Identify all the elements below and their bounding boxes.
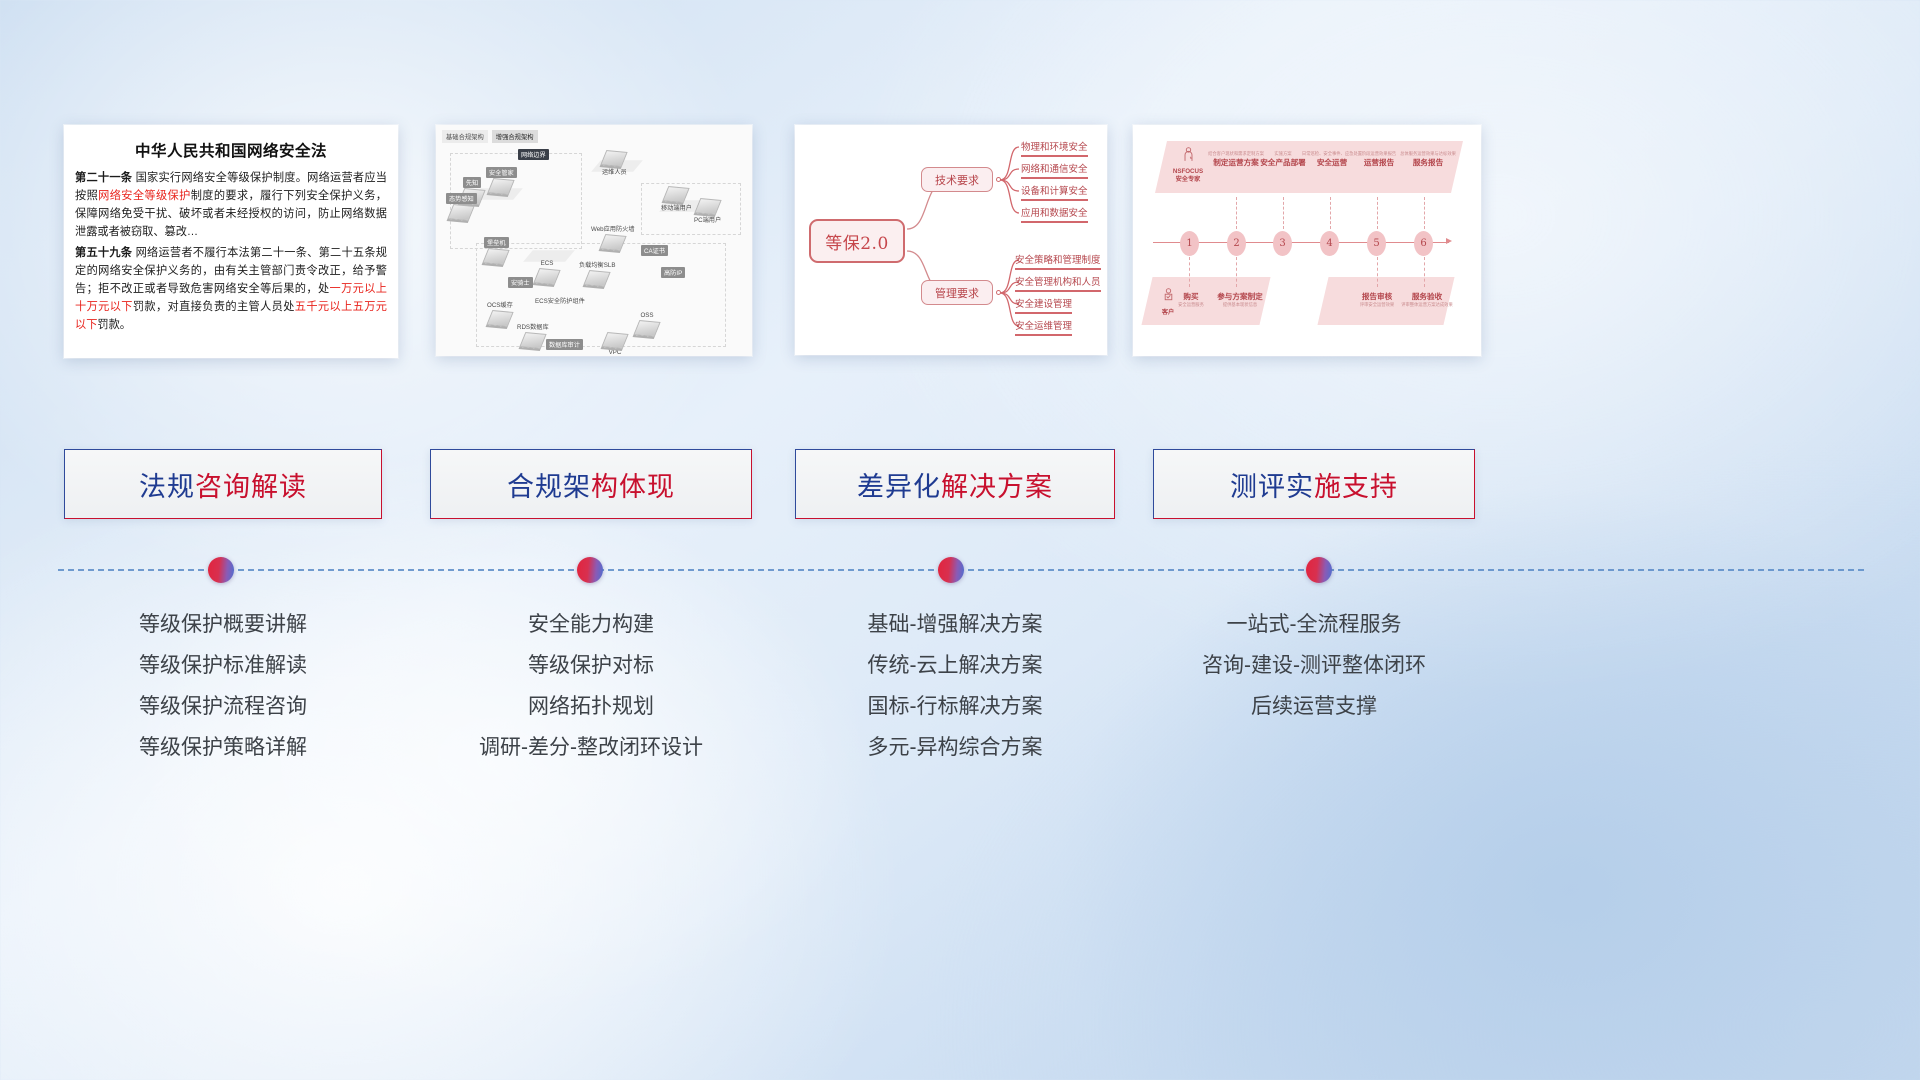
cube-icon [519, 332, 546, 349]
node-label: OCS缓存 [484, 299, 516, 310]
flow-label-service-report: 总体服务运营效果与达标效果 服务报告 [1395, 151, 1461, 168]
flow-step-5[interactable]: 5 [1367, 231, 1386, 256]
flow-tick-3 [1283, 197, 1284, 229]
expert-person-icon [1183, 147, 1194, 162]
node-label: 安全管家 [486, 167, 517, 178]
mindmap-expand-dot-technical[interactable] [996, 177, 1001, 182]
customer-person-icon [1163, 288, 1174, 303]
node-anqishi: 安骑士 [508, 277, 533, 289]
mindmap-leaf-network-security: 网络和通信安全 [1021, 161, 1088, 179]
tab-enhanced-architecture[interactable]: 增强合规架构 [492, 130, 538, 143]
title-box-regulation-consulting[interactable]: 法规咨询解读 [64, 449, 382, 519]
node-situation-awareness: 态势感知 [446, 193, 477, 220]
mindmap: 等保2.0 技术要求 物理和环境安全 网络和通信安全 设备和计算安全 应用和数据… [795, 125, 1107, 355]
tab-basic-architecture[interactable]: 基础合规架构 [442, 130, 488, 143]
node-label: 负载均衡SLB [576, 259, 618, 270]
title-text-3: 差异化解决方案 [857, 465, 1053, 504]
node-label: ECS [538, 259, 557, 268]
node-ecs-protection: ECS安全防护组件 [532, 295, 588, 307]
flow-label-purchase-title: 购买 [1173, 291, 1209, 302]
cube-icon [599, 234, 626, 251]
flow-role-expert-line1: NSFOCUS [1165, 168, 1211, 176]
title-4-red: 施支持 [1314, 472, 1398, 502]
title-boxes-row: 法规咨询解读 合规架构体现 差异化解决方案 测评实施支持 [0, 449, 1920, 519]
card-dengbao-mindmap[interactable]: 等保2.0 技术要求 物理和环境安全 网络和通信安全 设备和计算安全 应用和数据… [795, 125, 1107, 355]
cube-icon [486, 310, 513, 327]
flow-step-3[interactable]: 3 [1273, 231, 1292, 256]
flow-step-6[interactable]: 6 [1414, 231, 1433, 256]
flow-label-acceptance-title: 服务验收 [1401, 291, 1453, 302]
node-label: 先知 [463, 177, 481, 188]
mindmap-leaf-ops-mgmt: 安全运维管理 [1015, 318, 1072, 336]
mindmap-leaf-security-org: 安全管理机构和人员 [1015, 274, 1101, 292]
law-article-21-highlight: 网络安全等级保护 [98, 190, 191, 202]
flow-tick-5 [1377, 197, 1378, 229]
flow-tick-2 [1236, 197, 1237, 229]
mindmap-leaf-device-security: 设备和计算安全 [1021, 183, 1088, 201]
list-item: 多元-异构综合方案 [795, 728, 1115, 769]
cube-icon [448, 204, 475, 221]
mindmap-root[interactable]: 等保2.0 [809, 219, 905, 263]
flow-label-report-review: 报告审核 评审安全运营效果 [1351, 291, 1403, 308]
law-body: 第二十一条 国家实行网络安全等级保护制度。网络运营者应当按照网络安全等级保护制度… [64, 161, 398, 334]
list-item: 等级保护标准解读 [64, 646, 382, 687]
cube-icon [488, 178, 515, 195]
cube-icon [633, 320, 660, 337]
node-security-butler: 安全管家 [486, 167, 517, 194]
cube-icon [601, 332, 628, 349]
flow-label-report-review-title: 报告审核 [1351, 291, 1403, 302]
card-compliance-architecture[interactable]: 基础合规架构 增强合规架构 网络边界 安全管家 先知 态势感知 [436, 125, 752, 356]
flow-tick-6 [1424, 197, 1425, 229]
node-pc-user: PC端用户 [691, 199, 724, 226]
timeline-dot-3[interactable] [938, 557, 964, 583]
mindmap-branch-technical[interactable]: 技术要求 [921, 167, 993, 192]
node-label: 安骑士 [508, 277, 533, 288]
node-oss: OSS [636, 311, 658, 336]
list-item: 基础-增强解决方案 [795, 605, 1115, 646]
flow-step-4[interactable]: 4 [1320, 231, 1339, 256]
node-ocs-cache: OCS缓存 [484, 299, 516, 326]
feature-list-regulation: 等级保护概要讲解 等级保护标准解读 等级保护流程咨询 等级保护策略详解 [64, 605, 382, 769]
node-label: Web应用防火墙 [588, 223, 638, 234]
timeline [0, 560, 1920, 590]
mindmap-branch-management[interactable]: 管理要求 [921, 280, 993, 305]
title-box-compliance-architecture[interactable]: 合规架构体现 [430, 449, 752, 519]
architecture-tabs: 基础合规架构 增强合规架构 [442, 130, 538, 143]
flow-role-expert-line2: 安全专家 [1165, 176, 1211, 184]
cube-icon [584, 270, 611, 287]
title-3-blue: 差异化 [857, 472, 941, 502]
list-item: 等级保护策略详解 [64, 728, 382, 769]
list-item: 后续运营支撑 [1153, 687, 1475, 728]
title-2-red: 构体现 [591, 472, 675, 502]
list-item: 网络拓扑规划 [430, 687, 752, 728]
device-icon [663, 186, 690, 203]
node-label: ECS安全防护组件 [532, 295, 588, 306]
node-network-boundary: 网络边界 [518, 149, 549, 161]
title-2-blue: 合规架 [507, 472, 591, 502]
list-item: 等级保护概要讲解 [64, 605, 382, 646]
law-article-59-text-3: 罚款。 [97, 319, 131, 331]
node-label: 运维人员 [599, 166, 630, 177]
flow-tick-b6 [1424, 257, 1425, 287]
mindmap-leaf-construction-mgmt: 安全建设管理 [1015, 296, 1072, 314]
title-3-red: 解决方案 [941, 472, 1053, 502]
law-article-59: 第五十九条 网络运营者不履行本法第二十一条、第二十五条规定的网络安全保护义务的，… [75, 244, 387, 335]
flow-label-purchase: 购买 安全运营服务 [1173, 291, 1209, 308]
flow-label-acceptance: 服务验收 评审整体运营方案达成效果 [1401, 291, 1453, 308]
law-article-59-text-2: 罚款，对直接负责的主管人员处 [133, 301, 295, 313]
list-item: 等级保护对标 [430, 646, 752, 687]
mindmap-leaf-physical-security: 物理和环境安全 [1021, 139, 1088, 157]
node-waf: Web应用防火墙 [588, 223, 638, 250]
title-1-red: 咨询解读 [195, 472, 307, 502]
feature-list-solution: 基础-增强解决方案 传统-云上解决方案 国标-行标解决方案 多元-异构综合方案 [795, 605, 1115, 769]
architecture-diagram: 基础合规架构 增强合规架构 网络边界 安全管家 先知 态势感知 [436, 125, 752, 356]
node-anti-ddos-ip: 高防IP [661, 267, 685, 279]
card-service-flow[interactable]: NSFOCUS 安全专家 客户 1 2 3 4 5 6 [1133, 125, 1481, 356]
law-article-59-label: 第五十九条 [75, 247, 132, 259]
flow-label-participate: 参与方案制定 提供基本现状信息 [1211, 291, 1269, 308]
node-label: 网络边界 [518, 149, 549, 160]
feature-list-architecture: 安全能力构建 等级保护对标 网络拓扑规划 调研-差分-整改闭环设计 [430, 605, 752, 769]
flow-step-1[interactable]: 1 [1180, 231, 1199, 256]
list-item: 咨询-建设-测评整体闭环 [1153, 646, 1475, 687]
flow-label-report-review-sub: 评审安全运营效果 [1351, 302, 1403, 308]
node-label: VPC [606, 348, 625, 356]
list-item: 安全能力构建 [430, 605, 752, 646]
mindmap-expand-dot-management[interactable] [996, 290, 1001, 295]
flow-role-customer-label: 客户 [1151, 309, 1185, 317]
mindmap-leaf-security-policy: 安全策略和管理制度 [1015, 252, 1101, 270]
service-flow-diagram: NSFOCUS 安全专家 客户 1 2 3 4 5 6 [1133, 125, 1481, 356]
flow-tick-b2 [1236, 257, 1237, 287]
node-mobile-user: 移动端用户 [658, 187, 695, 214]
law-title: 中华人民共和国网络安全法 [64, 139, 398, 161]
node-ops-staff: 运维人员 [599, 151, 630, 178]
flow-tick-b5 [1377, 257, 1378, 287]
node-database-audit: 数据库审计 [546, 339, 583, 351]
flow-arrow-icon [1446, 238, 1452, 244]
cards-row: 中华人民共和国网络安全法 第二十一条 国家实行网络安全等级保护制度。网络运营者应… [0, 125, 1920, 360]
title-text-2: 合规架构体现 [507, 465, 675, 504]
node-ca-certificate: CA证书 [641, 245, 668, 257]
flow-tick-b1 [1189, 257, 1190, 287]
node-ecs: ECS [536, 259, 558, 284]
title-box-differentiated-solution[interactable]: 差异化解决方案 [795, 449, 1115, 519]
flow-label-participate-sub: 提供基本现状信息 [1211, 302, 1269, 308]
title-box-evaluation-support[interactable]: 测评实施支持 [1153, 449, 1475, 519]
node-slb: 负载均衡SLB [576, 259, 618, 286]
list-item: 调研-差分-整改闭环设计 [430, 728, 752, 769]
node-label: RDS数据库 [514, 321, 552, 332]
node-label: 数据库审计 [546, 339, 583, 350]
timeline-dot-2[interactable] [577, 557, 603, 583]
node-label: 高防IP [661, 267, 685, 278]
flow-label-purchase-sub: 安全运营服务 [1173, 302, 1209, 308]
cube-icon [483, 248, 510, 265]
mindmap-leaf-application-security: 应用和数据安全 [1021, 205, 1088, 223]
flow-tick-4 [1330, 197, 1331, 229]
node-label: PC端用户 [691, 214, 724, 225]
node-label: 堡垒机 [484, 237, 509, 248]
node-bastion-host: 堡垒机 [484, 237, 509, 264]
title-4-blue: 测评实 [1230, 472, 1314, 502]
flow-label-acceptance-sub: 评审整体运营方案达成效果 [1401, 302, 1453, 308]
feature-list-evaluation: 一站式-全流程服务 咨询-建设-测评整体闭环 后续运营支撑 [1153, 605, 1475, 728]
server-icon [601, 150, 628, 167]
law-article-21: 第二十一条 国家实行网络安全等级保护制度。网络运营者应当按照网络安全等级保护制度… [75, 169, 387, 242]
title-1-blue: 法规 [139, 472, 195, 502]
flow-label-service-report-title: 服务报告 [1395, 157, 1461, 168]
node-label: OSS [637, 311, 656, 320]
list-item: 等级保护流程咨询 [64, 687, 382, 728]
card-cybersecurity-law[interactable]: 中华人民共和国网络安全法 第二十一条 国家实行网络安全等级保护制度。网络运营者应… [64, 125, 398, 358]
node-label: 移动端用户 [658, 202, 695, 213]
cube-icon [533, 268, 560, 285]
node-vpc: VPC [604, 333, 626, 356]
flow-step-2[interactable]: 2 [1227, 231, 1246, 256]
title-text-1: 法规咨询解读 [139, 465, 307, 504]
list-item: 传统-云上解决方案 [795, 646, 1115, 687]
flow-label-participate-title: 参与方案制定 [1211, 291, 1269, 302]
feature-lists-row: 等级保护概要讲解 等级保护标准解读 等级保护流程咨询 等级保护策略详解 安全能力… [0, 605, 1920, 825]
law-article-21-label: 第二十一条 [75, 172, 132, 184]
node-label: 态势感知 [446, 193, 477, 204]
device-icon [694, 198, 721, 215]
list-item: 国标-行标解决方案 [795, 687, 1115, 728]
timeline-dot-4[interactable] [1306, 557, 1332, 583]
title-text-4: 测评实施支持 [1230, 465, 1398, 504]
node-label: CA证书 [641, 245, 668, 256]
list-item: 一站式-全流程服务 [1153, 605, 1475, 646]
timeline-dot-1[interactable] [208, 557, 234, 583]
